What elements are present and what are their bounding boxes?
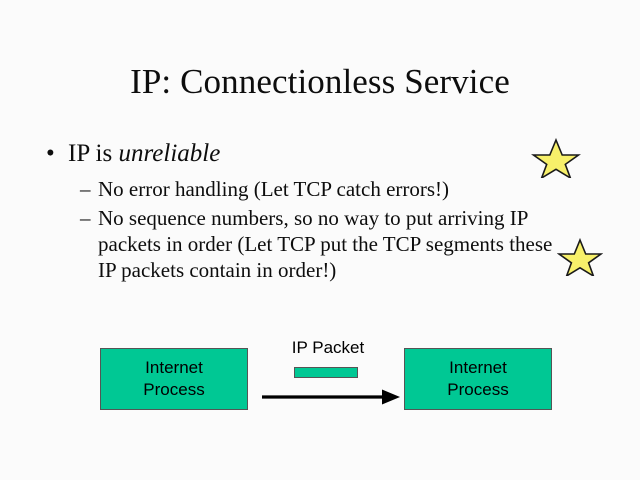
bullet-level2-no-error-handling: – No error handling (Let TCP catch error… [40, 176, 568, 202]
process-box-right[interactable]: Internet Process [404, 348, 552, 410]
sub-bullet-list: – No error handling (Let TCP catch error… [40, 176, 570, 283]
bullet-level1-text-before: IP is [68, 140, 118, 167]
packet-label: IP Packet [258, 337, 398, 358]
bullet-level1-ip-unreliable: • IP is unreliable [40, 138, 570, 170]
process-box-left[interactable]: Internet Process [100, 348, 248, 410]
slide-canvas: IP: Connectionless Service • IP is unrel… [0, 0, 640, 480]
bullet-level1-text-italic: unreliable [118, 140, 220, 167]
bullet-level2-no-sequence-numbers: – No sequence numbers, so no way to put … [40, 205, 568, 283]
packet-bar-icon [294, 367, 358, 378]
star-icon [531, 138, 581, 178]
slide-title: IP: Connectionless Service [0, 62, 640, 102]
process-box-left-line1: Internet [145, 357, 203, 379]
process-box-right-line1: Internet [449, 357, 507, 379]
bullet-marker-dash: – [80, 205, 91, 231]
bullet-marker-dot: • [46, 138, 55, 170]
process-box-right-line2: Process [447, 379, 508, 401]
bullet-level2-text: No error handling (Let TCP catch errors!… [98, 177, 449, 201]
process-box-left-line2: Process [143, 379, 204, 401]
bullet-level2-text: No sequence numbers, so no way to put ar… [98, 206, 552, 282]
flow-arrow-icon [258, 386, 404, 408]
slide-body: • IP is unreliable – No error handling (… [40, 138, 570, 286]
star-icon [557, 238, 603, 276]
bullet-marker-dash: – [80, 176, 91, 202]
